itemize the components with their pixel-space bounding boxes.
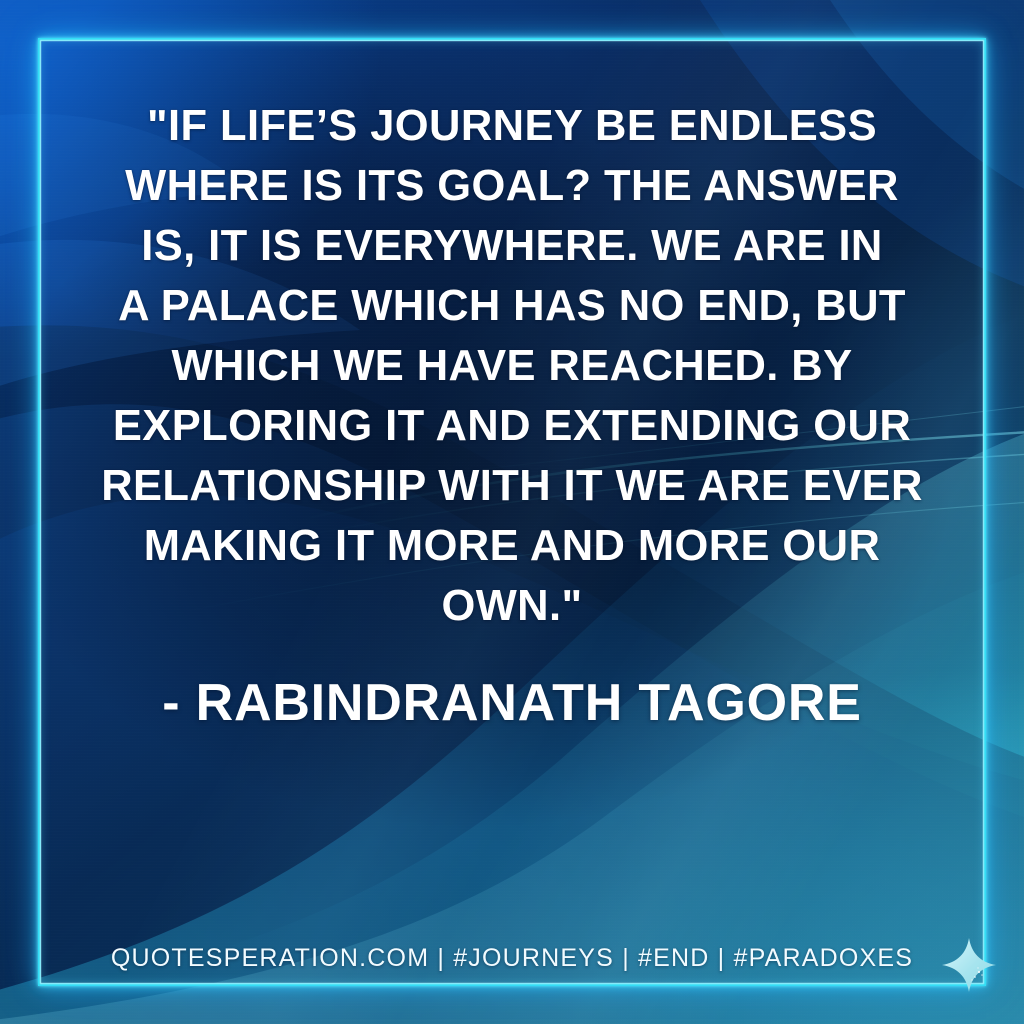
quote-line: EXPLORING IT AND EXTENDING OUR xyxy=(72,396,952,456)
quote-line: OWN." xyxy=(72,576,952,636)
quote-line: IS, IT IS EVERYWHERE. WE ARE IN xyxy=(72,216,952,276)
quote-card: "IF LIFE’S JOURNEY BE ENDLESS WHERE IS I… xyxy=(0,0,1024,1024)
quote-line: WHICH WE HAVE REACHED. BY xyxy=(72,336,952,396)
quote-author: - RABINDRANATH TAGORE xyxy=(72,672,952,734)
quote-line: MAKING IT MORE AND MORE OUR xyxy=(72,516,952,576)
sparkle-icon xyxy=(938,934,1000,996)
quote-line: RELATIONSHIP WITH IT WE ARE EVER xyxy=(72,456,952,516)
quote-line: A PALACE WHICH HAS NO END, BUT xyxy=(72,276,952,336)
quote-line: WHERE IS ITS GOAL? THE ANSWER xyxy=(72,156,952,216)
quote-line: "IF LIFE’S JOURNEY BE ENDLESS xyxy=(72,96,952,156)
footer-credit: QUOTESPERATION.COM | #JOURNEYS | #END | … xyxy=(0,944,1024,973)
quote-text: "IF LIFE’S JOURNEY BE ENDLESS WHERE IS I… xyxy=(72,96,952,636)
